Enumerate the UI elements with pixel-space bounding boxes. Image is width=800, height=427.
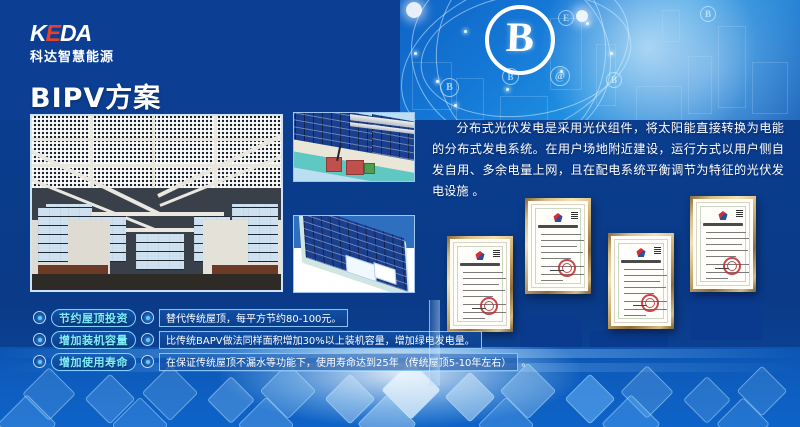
feature-text-tail: 。 xyxy=(521,354,531,369)
bullet-dot-icon xyxy=(141,355,154,368)
photo-ceiling xyxy=(32,116,281,290)
logo-subtitle: 科达智慧能源 xyxy=(30,46,150,65)
badge-e-icon: E xyxy=(558,10,574,26)
logo-letter-e: E xyxy=(46,20,60,47)
feature-row: 增加使用寿命 在保证传统屋顶不漏水等功能下，使用寿命达到25年（传统屋顶5-10… xyxy=(33,351,453,372)
feature-row: 节约屋顶投资 替代传统屋顶，每平方节约80-100元。 xyxy=(33,307,453,328)
bullet-dot-icon xyxy=(33,333,46,346)
feature-label: 增加使用寿命 xyxy=(51,353,136,371)
page-title: BIPV方案 xyxy=(30,76,161,115)
bullet-dot-icon xyxy=(141,311,154,324)
logo-letter-k: K xyxy=(30,20,46,47)
badge-at-icon: @ xyxy=(550,66,570,86)
description-text: 分布式光伏发电是采用光伏组件，将太阳能直接转换为电能的分布式发电系统。在用户场地… xyxy=(432,118,784,202)
photo-floor xyxy=(32,274,283,290)
bullet-dot-icon xyxy=(141,333,154,346)
roof-detail-render xyxy=(293,112,415,182)
pedestal xyxy=(690,288,762,340)
patent-certificate xyxy=(525,198,591,294)
feature-label: 增加装机容量 xyxy=(51,331,136,349)
feature-text: 在保证传统屋顶不漏水等功能下，使用寿命达到25年（传统屋顶5-10年左右） xyxy=(159,353,518,371)
bipv-poster: B B B B E @ B K E DA 科达智慧能源 BIPV方案 xyxy=(0,0,800,427)
feature-list: 节约屋顶投资 替代传统屋顶，每平方节约80-100元。 增加装机容量 比传统BA… xyxy=(33,307,453,373)
hero-image: B B B B E @ xyxy=(400,0,800,120)
feature-label: 节约屋顶投资 xyxy=(51,309,136,327)
brand-logo: K E DA 科达智慧能源 xyxy=(30,22,150,65)
feature-row: 增加装机容量 比传统BAPV做法同样面积增加30%以上装机容量，增加绿电发电量。 xyxy=(33,329,453,350)
atrium-photo xyxy=(30,114,283,292)
bitcoin-badge-icon: B xyxy=(700,6,716,22)
description-paragraph: 分布式光伏发电是采用光伏组件，将太阳能直接转换为电能的分布式发电系统。在用户场地… xyxy=(432,121,784,198)
bullet-dot-icon xyxy=(33,311,46,324)
bitcoin-logo-icon: B xyxy=(485,5,555,75)
bullet-dot-icon xyxy=(33,355,46,368)
feature-text: 替代传统屋顶，每平方节约80-100元。 xyxy=(159,309,348,327)
logo-letters-da: DA xyxy=(60,20,91,47)
logo-wordmark: K E DA xyxy=(30,22,150,44)
bitcoin-badge-icon: B xyxy=(606,72,622,88)
bitcoin-badge-icon: B xyxy=(440,78,459,97)
light-ribbon xyxy=(429,300,440,386)
patent-certificate xyxy=(608,233,674,329)
patent-certificate xyxy=(447,236,513,332)
patent-certificate xyxy=(690,196,756,292)
pv-array-render xyxy=(293,215,415,293)
